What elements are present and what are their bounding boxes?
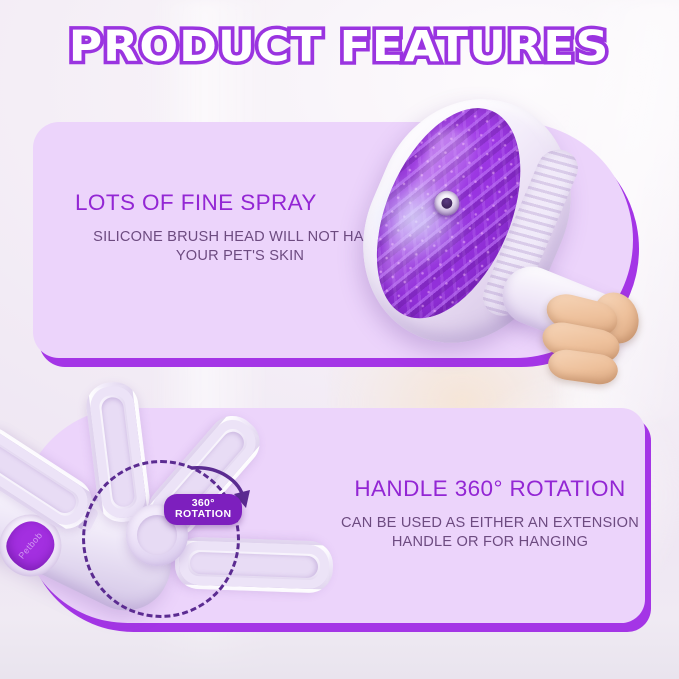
feature-body-handle-rotation-line1: CAN BE USED AS EITHER AN EXTENSION	[340, 514, 640, 533]
product-image-steam-brush	[352, 84, 679, 374]
rotation-badge-label: ROTATION	[175, 509, 231, 520]
infographic-canvas: PRODUCT FEATURES LOTS OF FINE SPRAY SILI…	[0, 0, 679, 679]
product-image-steam-brush-clip	[352, 84, 679, 374]
rotation-badge: 360° ROTATION	[164, 494, 242, 525]
product-image-rotating-handle: Petbob 360° ROTATION	[0, 386, 332, 636]
hand-holding-brush	[542, 292, 662, 397]
feature-card-handle-rotation-text: HANDLE 360° ROTATION CAN BE USED AS EITH…	[340, 476, 640, 552]
feature-body-handle-rotation-line2: HANDLE OR FOR HANGING	[340, 533, 640, 552]
brand-logo-text: Petbob	[16, 530, 44, 561]
page-title: PRODUCT FEATURES	[69, 22, 610, 72]
page-title-container: PRODUCT FEATURES	[0, 22, 679, 72]
feature-title-handle-rotation: HANDLE 360° ROTATION	[340, 476, 640, 502]
